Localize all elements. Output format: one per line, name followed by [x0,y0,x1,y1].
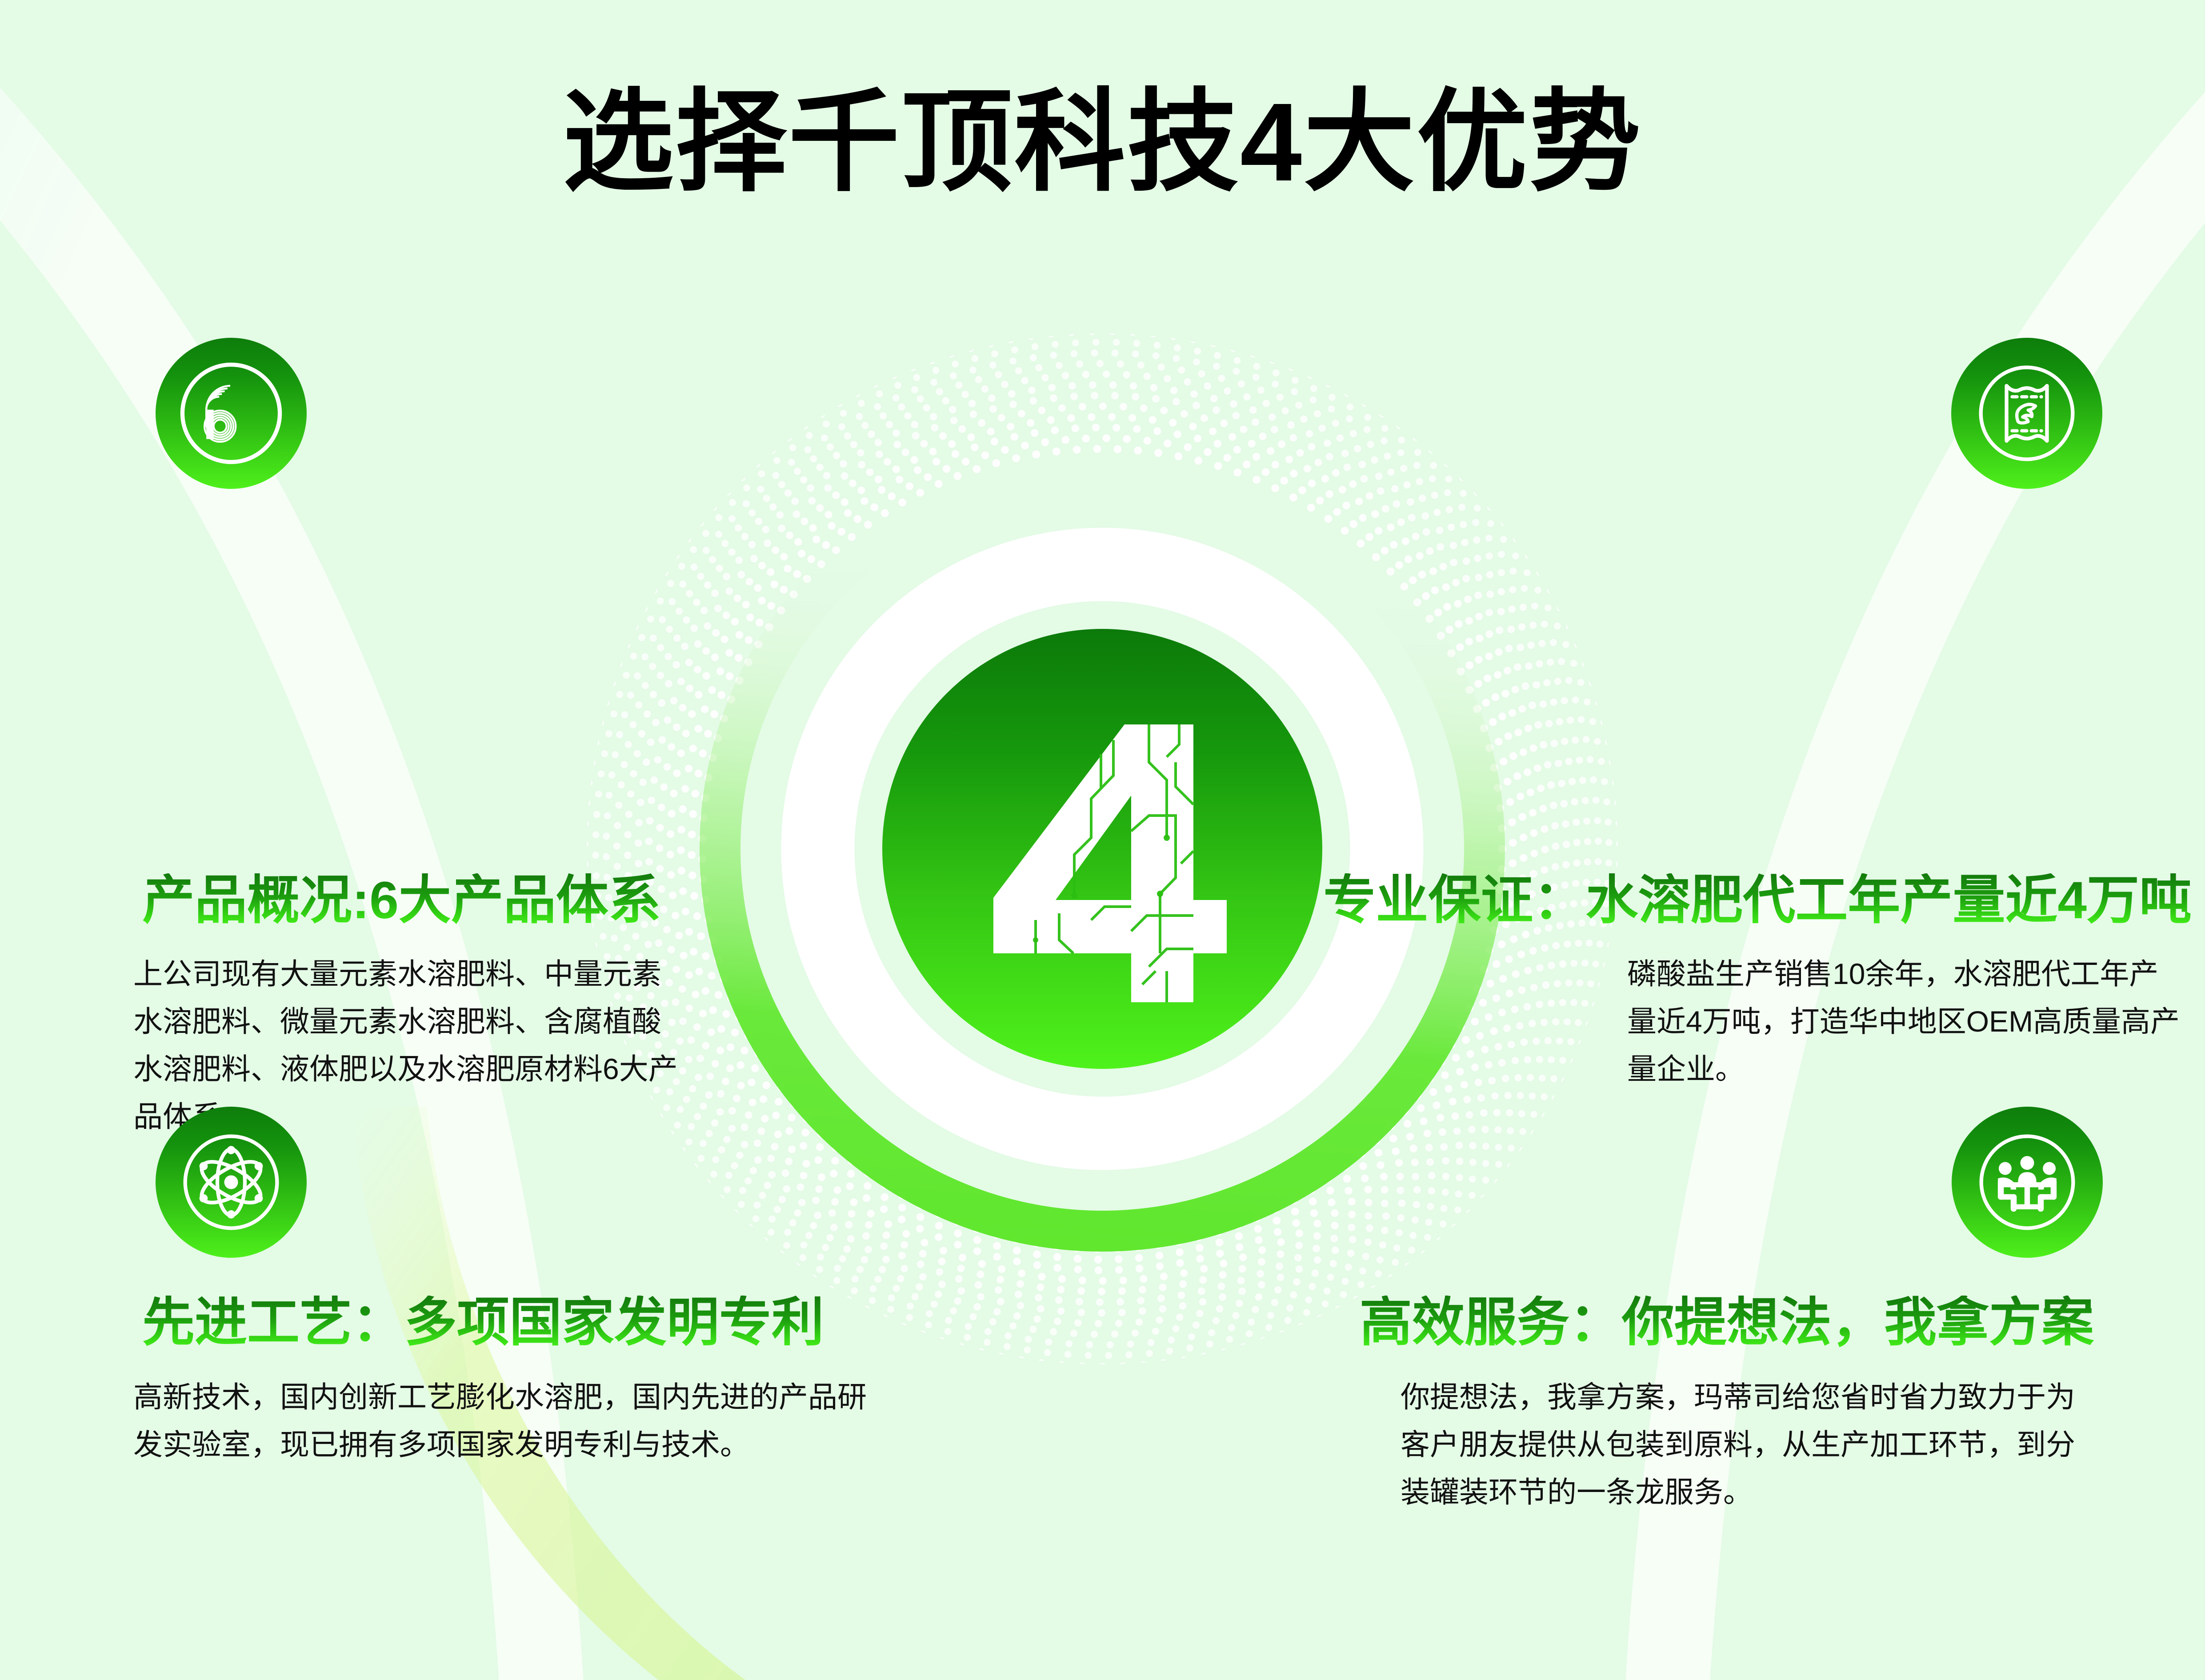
circuit-number-four-icon [882,629,1322,1069]
infographic-canvas: 选择千顶科技4大优势 [0,0,2205,1680]
center-badge [882,629,1322,1069]
advantage-heading: 产品概况:6大产品体系 [142,873,661,928]
advantage-heading: 专业保证：水溶肥代工年产量近4万吨 [1323,873,2192,928]
meeting-table-people-icon [1952,1107,2103,1258]
advantage-heading: 先进工艺：多项国家发明专利 [142,1296,824,1351]
advantage-body: 高新技术，国内创新工艺膨化水溶肥，国内先进的产品研发实验室，现已拥有多项国家发明… [133,1373,871,1468]
advantage-body: 磷酸盐生产销售10余年，水溶肥代工年产量近4万吨，打造华中地区OEM高质量高产量… [1627,950,2187,1093]
advantage-heading: 高效服务：你提想法，我拿方案 [1360,1296,2094,1351]
atom-icon [156,1107,307,1258]
number-six-rings-icon [156,338,307,489]
fertilizer-bag-icon [1951,338,2102,489]
page-title: 选择千顶科技4大优势 [0,87,2205,198]
advantage-body: 你提想法，我拿方案，玛蒂司给您省时省力致力于为客户朋友提供从包装到原料，从生产加… [1401,1373,2094,1516]
